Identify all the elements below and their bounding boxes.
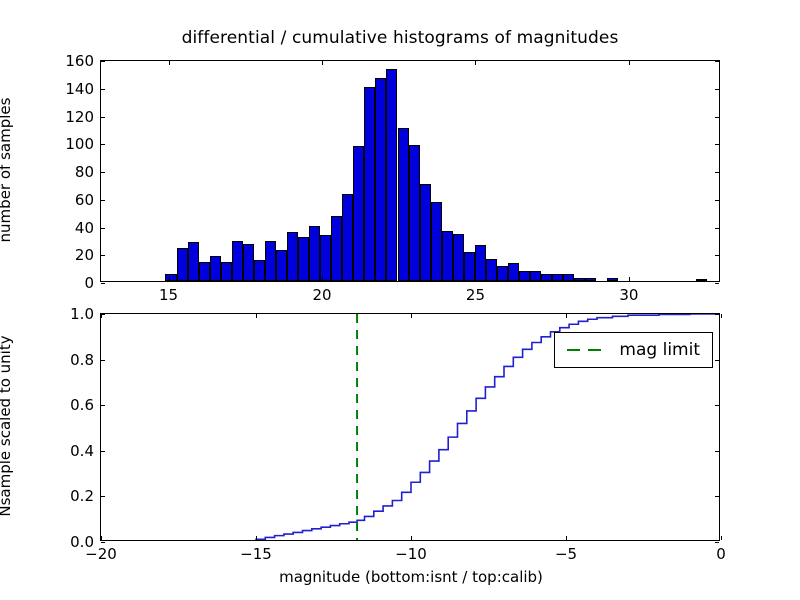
histogram-bar [552, 274, 563, 281]
bottom-y-ticklabel: 0.2 [70, 487, 94, 505]
bottom-x-ticklabel: 0 [716, 545, 726, 563]
histogram-bar [420, 184, 431, 281]
histogram-bar [519, 271, 530, 281]
bottom-y-tick-right [715, 314, 719, 315]
bottom-y-tick [101, 451, 105, 452]
top-ylabel: number of samples [0, 70, 14, 270]
histogram-bar [375, 78, 386, 281]
top-y-tick-right [715, 117, 719, 118]
histogram-bar [232, 241, 243, 281]
histogram-bar [287, 232, 298, 281]
histogram-bar [276, 250, 287, 281]
histogram-bar [508, 263, 519, 281]
bottom-x-tick [256, 536, 257, 540]
bottom-y-ticklabel: 0.6 [70, 396, 94, 414]
histogram-bar [243, 244, 254, 281]
bottom-x-tick [721, 536, 722, 540]
top-y-ticklabel: 60 [75, 191, 94, 209]
top-y-ticklabel: 160 [65, 52, 94, 70]
top-y-tick-right [715, 228, 719, 229]
top-y-ticklabel: 40 [75, 219, 94, 237]
top-y-tick-right [715, 200, 719, 201]
histogram-bar [442, 231, 453, 281]
top-x-tick-top [475, 61, 476, 65]
top-x-tick-top [169, 61, 170, 65]
bottom-y-ticklabel: 1.0 [70, 305, 94, 323]
bottom-axes-cumulative-histogram: Nsample scaled to unity magnitude (botto… [100, 313, 720, 541]
histogram-bar [342, 194, 353, 281]
histogram-bar [486, 259, 497, 281]
top-y-tick-right [715, 255, 719, 256]
top-y-tick-right [715, 172, 719, 173]
top-x-ticklabel: 25 [466, 286, 485, 304]
histogram-bar [563, 274, 574, 281]
histogram-bar [331, 216, 342, 281]
bottom-y-tick-right [715, 451, 719, 452]
histogram-bar [188, 242, 199, 281]
bottom-x-tick-top [411, 314, 412, 318]
histogram-bar [541, 274, 552, 281]
legend-label-mag-limit: mag limit [619, 340, 700, 360]
histogram-bar [320, 235, 331, 281]
histogram-bar [464, 252, 475, 281]
bottom-x-tick-top [566, 314, 567, 318]
figure-title: differential / cumulative histograms of … [0, 28, 800, 48]
bottom-y-tick [101, 542, 105, 543]
bottom-xlabel: magnitude (bottom:isnt / top:calib) [101, 568, 721, 586]
mag-limit-dash-icon [565, 343, 605, 357]
histogram-bar [386, 69, 397, 281]
histogram-bar [309, 226, 320, 282]
top-y-tick [101, 283, 105, 284]
top-y-tick [101, 89, 105, 90]
top-y-tick [101, 255, 105, 256]
top-y-ticklabel: 80 [75, 163, 94, 181]
top-y-tick [101, 228, 105, 229]
histogram-bar [453, 234, 464, 281]
histogram-bar [199, 262, 210, 281]
histogram-bar [254, 260, 265, 281]
bottom-x-tick-top [721, 314, 722, 318]
bottom-y-tick [101, 405, 105, 406]
histogram-bar [530, 271, 541, 281]
top-y-tick-right [715, 283, 719, 284]
bottom-y-tick-right [715, 496, 719, 497]
histogram-bar [221, 262, 232, 281]
top-y-ticklabel: 100 [65, 135, 94, 153]
bottom-x-tick [411, 536, 412, 540]
top-y-tick-right [715, 89, 719, 90]
top-y-tick [101, 200, 105, 201]
histogram-bar [497, 266, 508, 281]
top-y-tick [101, 172, 105, 173]
bottom-ylabel: Nsample scaled to unity [0, 306, 14, 546]
top-axes-differential-histogram: number of samples 020406080100120140160 … [100, 60, 720, 282]
bottom-x-tick-top [256, 314, 257, 318]
bottom-y-ticklabel: 0.4 [70, 442, 94, 460]
top-x-tick [475, 277, 476, 281]
histogram-bar [165, 274, 176, 281]
top-y-tick [101, 144, 105, 145]
bottom-y-tick-right [715, 360, 719, 361]
top-x-ticklabel: 30 [619, 286, 638, 304]
top-x-tick [322, 277, 323, 281]
bottom-y-tick-right [715, 405, 719, 406]
top-plot-area [101, 61, 719, 281]
top-y-tick [101, 117, 105, 118]
histogram-bar [210, 256, 221, 281]
histogram-bar [177, 248, 188, 281]
bottom-y-tick [101, 360, 105, 361]
bottom-x-tick [101, 536, 102, 540]
histogram-bar [574, 278, 585, 281]
bottom-x-ticklabel: −20 [85, 545, 117, 563]
histogram-bar [475, 245, 486, 281]
top-y-ticklabel: 0 [84, 274, 94, 292]
bottom-x-tick [566, 536, 567, 540]
histogram-bar [585, 278, 596, 281]
bottom-y-tick-right [715, 542, 719, 543]
top-x-ticklabel: 15 [159, 286, 178, 304]
top-y-tick [101, 61, 105, 62]
bottom-x-ticklabel: −10 [395, 545, 427, 563]
histogram-bar [607, 278, 618, 281]
legend-box[interactable]: mag limit [554, 332, 713, 368]
bottom-y-tick [101, 496, 105, 497]
histogram-bar [298, 237, 309, 281]
bottom-x-tick-top [101, 314, 102, 318]
top-y-tick-right [715, 144, 719, 145]
histogram-bar [696, 279, 707, 281]
histogram-bar [364, 87, 375, 281]
top-y-ticklabel: 20 [75, 246, 94, 264]
top-x-tick-top [629, 61, 630, 65]
bottom-x-ticklabel: −5 [555, 545, 577, 563]
histogram-bar [398, 128, 409, 281]
top-x-tick-top [322, 61, 323, 65]
top-x-tick [629, 277, 630, 281]
histogram-bar [431, 202, 442, 281]
histogram-bar [353, 146, 364, 281]
top-x-ticklabel: 20 [312, 286, 331, 304]
top-x-tick [169, 277, 170, 281]
histogram-bar [409, 145, 420, 281]
bottom-y-ticklabel: 0.8 [70, 351, 94, 369]
histogram-bar [265, 241, 276, 281]
top-y-ticklabel: 120 [65, 108, 94, 126]
top-y-ticklabel: 140 [65, 80, 94, 98]
top-y-tick-right [715, 61, 719, 62]
bottom-x-ticklabel: −15 [240, 545, 272, 563]
figure-canvas: differential / cumulative histograms of … [0, 0, 800, 600]
